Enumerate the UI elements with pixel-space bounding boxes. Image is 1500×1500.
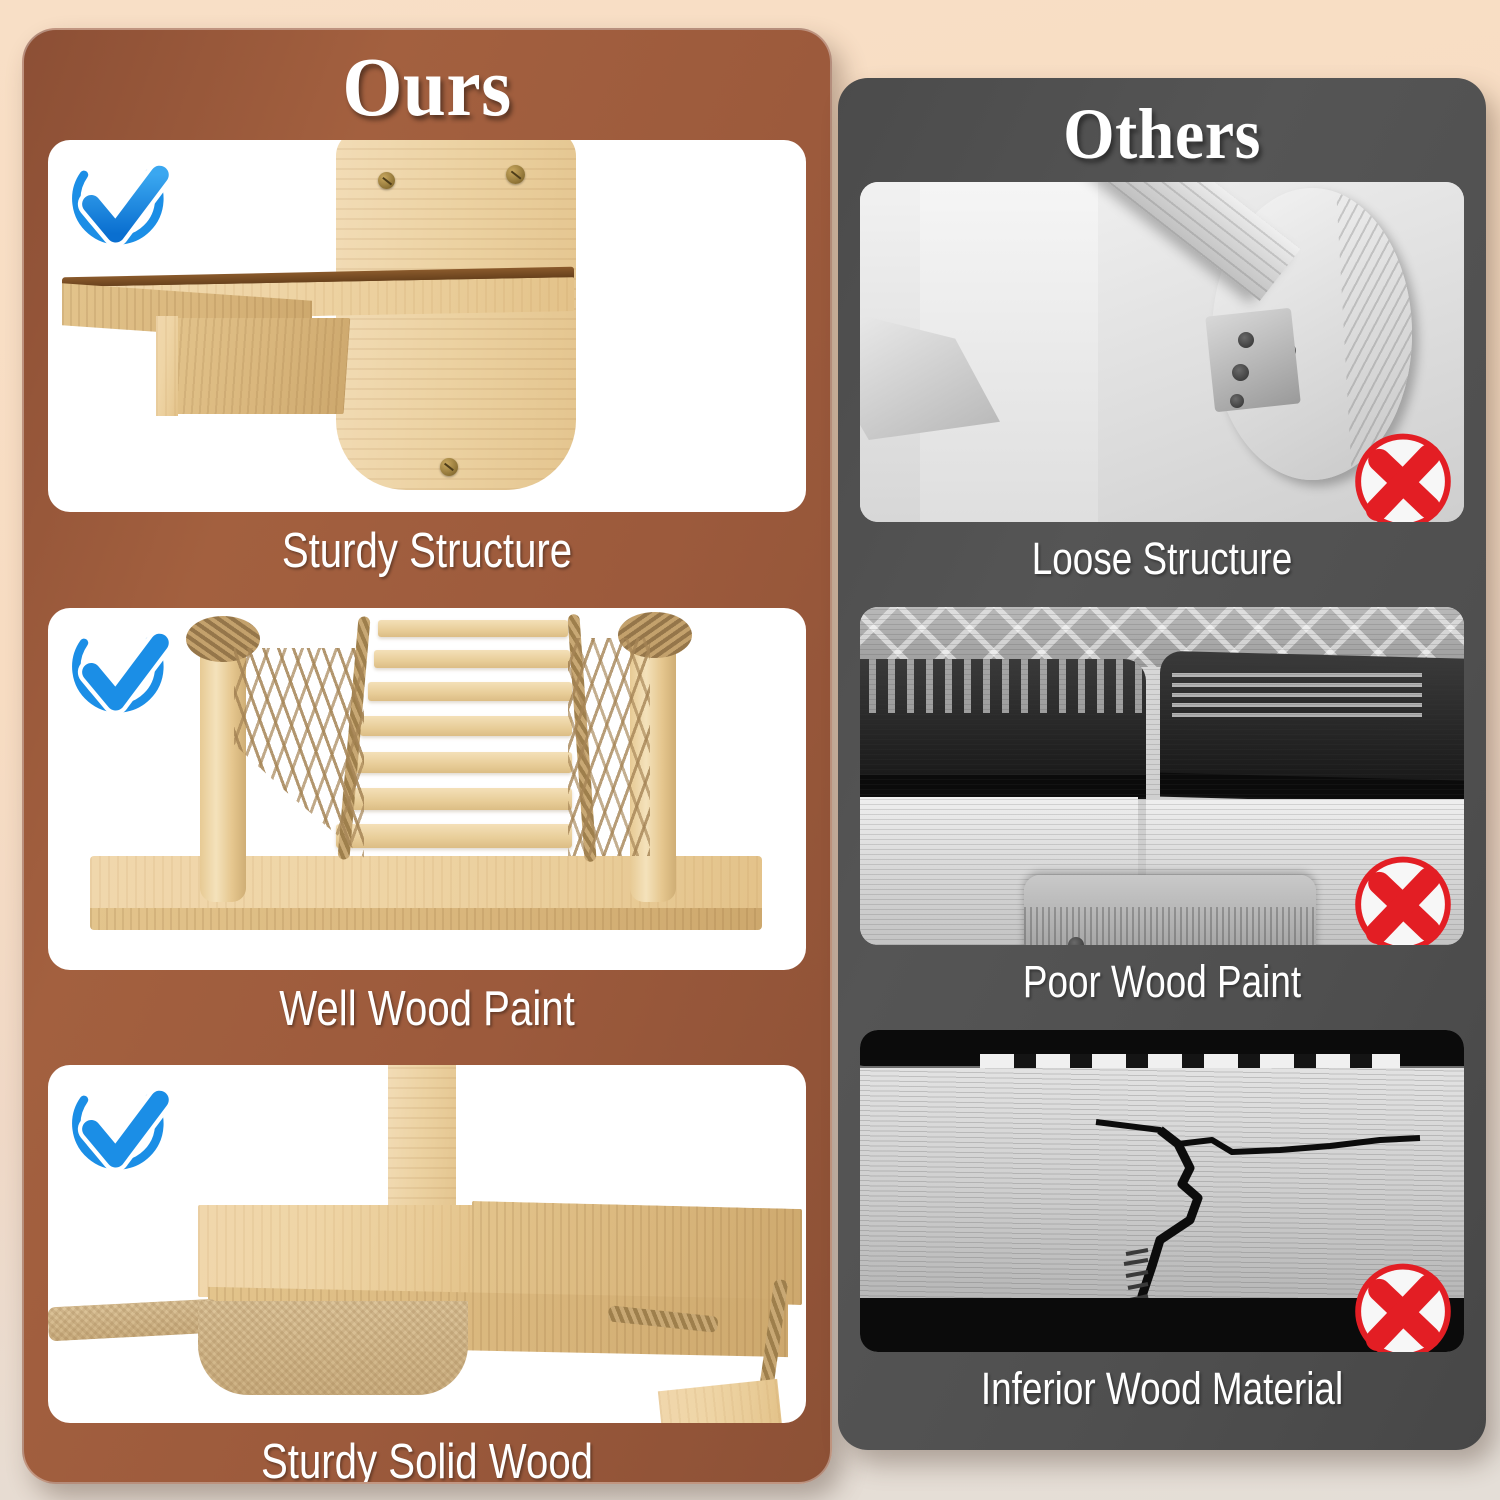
- ours-caption-1: Sturdy Structure: [116, 512, 738, 594]
- rope-bridge-illustration: [48, 608, 806, 970]
- others-caption-1: Loose Structure: [914, 522, 1409, 597]
- ours-card-sturdy-structure: Sturdy Structure: [48, 140, 806, 594]
- others-caption-3: Inferior Wood Material: [914, 1352, 1409, 1427]
- ours-panel: Ours: [22, 28, 832, 1484]
- others-panel: Others: [838, 78, 1486, 1450]
- ours-card-sturdy-solid-wood: Sturdy Solid Wood: [48, 1065, 806, 1484]
- ours-caption-2: Well Wood Paint: [116, 970, 738, 1052]
- others-photo-1: [860, 182, 1464, 522]
- ours-photo-2: [48, 608, 806, 970]
- cracked-wood-illustration: [860, 1030, 1464, 1352]
- others-caption-2: Poor Wood Paint: [914, 945, 1409, 1020]
- others-card-inferior-wood-material: Inferior Wood Material: [860, 1030, 1464, 1427]
- comparison-infographic: Ours: [0, 0, 1500, 1500]
- others-panel-title: Others: [864, 78, 1460, 182]
- shelf-bracket-illustration: [48, 140, 806, 512]
- loose-bracket-illustration: [860, 182, 1464, 522]
- others-photo-3: [860, 1030, 1464, 1352]
- ours-panel-title: Ours: [56, 30, 798, 140]
- others-card-loose-structure: Loose Structure: [860, 182, 1464, 597]
- ours-photo-1: [48, 140, 806, 512]
- others-photo-2: [860, 607, 1464, 945]
- ours-photo-3: [48, 1065, 806, 1423]
- others-card-poor-wood-paint: Poor Wood Paint: [860, 607, 1464, 1020]
- ours-card-well-wood-paint: Well Wood Paint: [48, 608, 806, 1052]
- ours-card-list: Sturdy Structure: [24, 140, 830, 1484]
- peeling-paint-illustration: [860, 607, 1464, 945]
- others-card-list: Loose Structure: [838, 182, 1486, 1428]
- solid-wood-joint-illustration: [48, 1065, 806, 1423]
- ours-caption-3: Sturdy Solid Wood: [116, 1423, 738, 1484]
